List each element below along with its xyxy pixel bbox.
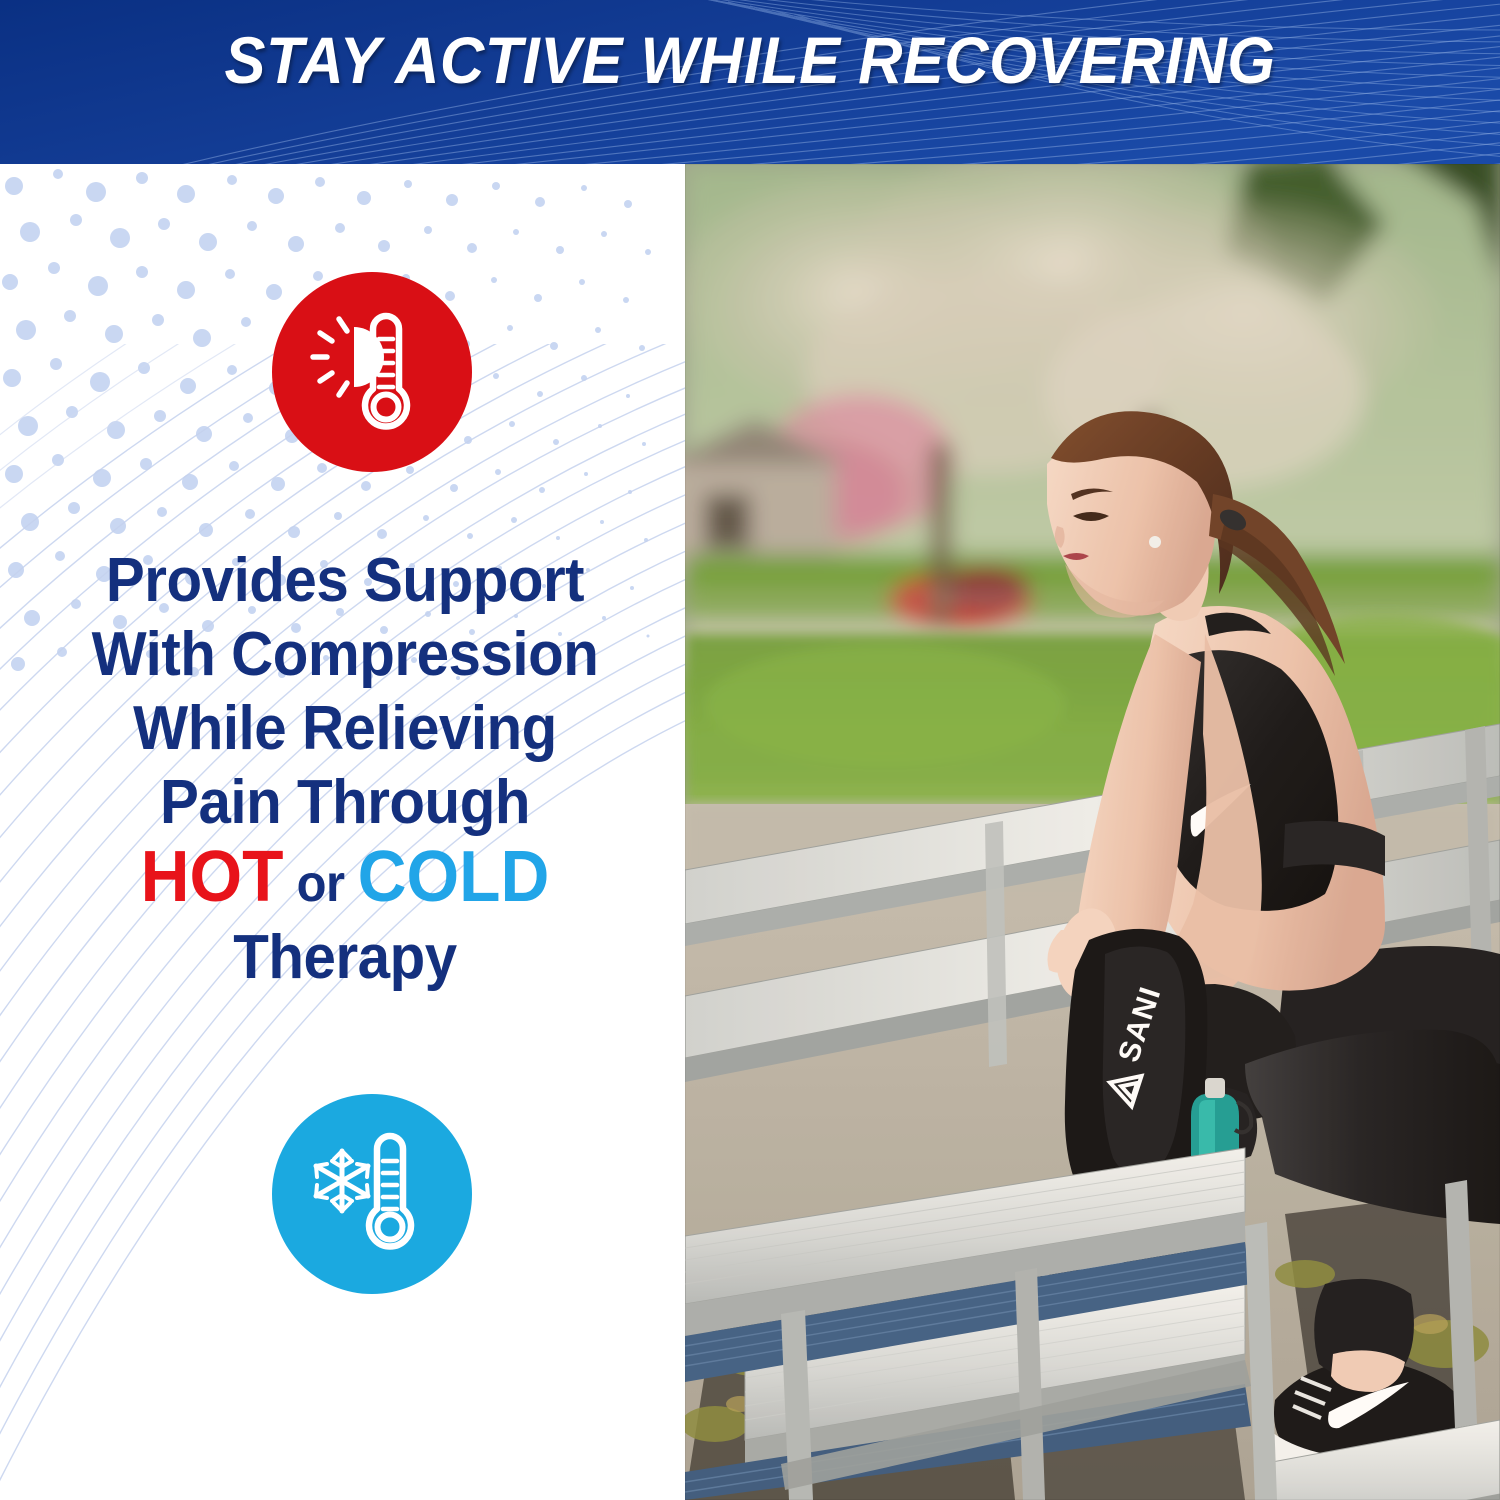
header-banner: STAY ACTIVE WHILE RECOVERING	[0, 0, 1500, 164]
hot-label: HOT	[141, 837, 284, 917]
headline-line-1: Provides Support	[30, 544, 660, 618]
headline-block: Provides Support With Compression While …	[30, 544, 660, 995]
headline-line-2: With Compression	[30, 618, 660, 692]
headline-line-6: Therapy	[30, 921, 660, 995]
cold-thermometer-icon	[272, 1094, 472, 1294]
headline-hot-cold-line: HOT or COLD	[30, 840, 660, 921]
hot-thermometer-icon	[272, 272, 472, 472]
product-infographic: STAY ACTIVE WHILE RECOVERING	[0, 0, 1500, 1500]
cold-label: COLD	[358, 837, 550, 917]
headline-line-4: Pain Through	[30, 766, 660, 840]
cold-thermometer-glyph	[297, 1119, 447, 1269]
lifestyle-product-photo: SANI	[685, 164, 1500, 1500]
hot-thermometer-glyph	[297, 297, 447, 447]
connector-label: or	[283, 855, 357, 913]
left-content-panel: Provides Support With Compression While …	[0, 164, 690, 1500]
headline-line-3: While Relieving	[30, 692, 660, 766]
photo-illustration: SANI	[685, 164, 1500, 1500]
banner-title: STAY ACTIVE WHILE RECOVERING	[53, 22, 1448, 98]
